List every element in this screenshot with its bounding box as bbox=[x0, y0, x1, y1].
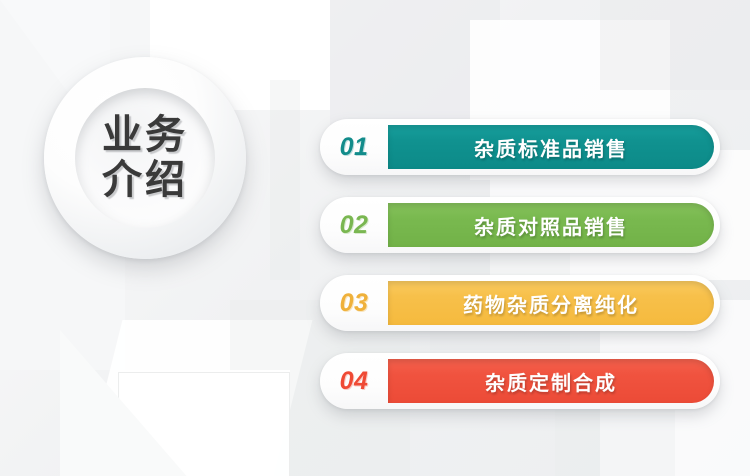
service-label-01: 杂质标准品销售 bbox=[474, 133, 628, 162]
service-item-04[interactable]: 04 杂质定制合成 bbox=[320, 353, 720, 409]
badge-title-line-2: 介绍 bbox=[102, 160, 188, 201]
service-item-01[interactable]: 01 杂质标准品销售 bbox=[320, 119, 720, 175]
service-number-01: 01 bbox=[320, 133, 388, 162]
service-pill-04: 杂质定制合成 bbox=[388, 359, 714, 403]
service-item-02[interactable]: 02 杂质对照品销售 bbox=[320, 197, 720, 253]
slide-canvas: 业务 介绍 01 杂质标准品销售 02 杂质对照品销售 03 药物杂质分离纯化 … bbox=[0, 0, 750, 476]
service-label-03: 药物杂质分离纯化 bbox=[463, 289, 639, 318]
service-number-03: 03 bbox=[320, 289, 388, 318]
badge-inner-circle: 业务 介绍 bbox=[75, 88, 215, 228]
service-number-04: 04 bbox=[320, 367, 388, 396]
bg-shape-12 bbox=[270, 80, 300, 280]
badge-title-line-1: 业务 bbox=[102, 115, 188, 156]
service-label-04: 杂质定制合成 bbox=[485, 367, 617, 396]
service-label-02: 杂质对照品销售 bbox=[474, 211, 628, 240]
service-pill-01: 杂质标准品销售 bbox=[388, 125, 714, 169]
bg-shape-18 bbox=[60, 330, 190, 476]
service-pill-02: 杂质对照品销售 bbox=[388, 203, 714, 247]
business-introduction-badge: 业务 介绍 bbox=[44, 57, 246, 259]
service-pill-03: 药物杂质分离纯化 bbox=[388, 281, 714, 325]
service-number-02: 02 bbox=[320, 211, 388, 240]
bg-shape-15 bbox=[555, 410, 675, 476]
service-item-03[interactable]: 03 药物杂质分离纯化 bbox=[320, 275, 720, 331]
service-list: 01 杂质标准品销售 02 杂质对照品销售 03 药物杂质分离纯化 04 杂质定… bbox=[320, 119, 720, 409]
bg-shape-5 bbox=[600, 0, 750, 90]
